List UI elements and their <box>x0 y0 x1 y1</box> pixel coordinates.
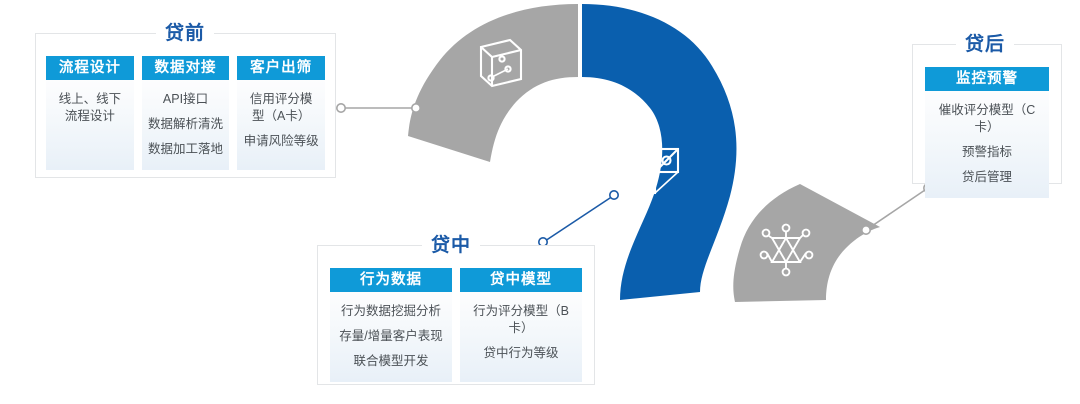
list-item: API接口 <box>142 87 230 112</box>
column-header: 贷中模型 <box>460 268 582 292</box>
panel-title-pre-loan: 贷前 <box>156 21 214 47</box>
column-process-design[interactable]: 流程设计 线上、线下 流程设计 <box>46 56 134 170</box>
column-header: 监控预警 <box>925 67 1049 91</box>
column-body: 行为评分模型（B卡） 贷中行为等级 <box>460 292 582 382</box>
list-item: 催收评分模型（C卡） <box>925 98 1049 140</box>
list-item: 预警指标 <box>925 140 1049 165</box>
list-item: 贷后管理 <box>925 165 1049 190</box>
list-item: 存量/增量客户表现 <box>330 324 452 349</box>
list-item: 数据解析清洗 <box>142 112 230 137</box>
column-body: 行为数据挖掘分析 存量/增量客户表现 联合模型开发 <box>330 292 452 382</box>
column-header: 数据对接 <box>142 56 230 80</box>
column-customer-screening[interactable]: 客户出筛 信用评分模 型（A卡） 申请风险等级 <box>237 56 325 170</box>
connector-pre <box>337 104 420 112</box>
column-data-integration[interactable]: 数据对接 API接口 数据解析清洗 数据加工落地 <box>142 56 230 170</box>
list-item: 联合模型开发 <box>330 349 452 374</box>
list-item: 贷中行为等级 <box>460 341 582 366</box>
panel-title-post-loan: 贷后 <box>956 32 1014 58</box>
list-item: 数据加工落地 <box>142 137 230 162</box>
column-body: 催收评分模型（C卡） 预警指标 贷后管理 <box>925 91 1049 198</box>
list-item: 信用评分模 型（A卡） <box>237 87 325 129</box>
column-header: 客户出筛 <box>237 56 325 80</box>
column-group-post-loan: 监控预警 催收评分模型（C卡） 预警指标 贷后管理 <box>925 67 1049 198</box>
column-monitoring-alert[interactable]: 监控预警 催收评分模型（C卡） 预警指标 贷后管理 <box>925 67 1049 198</box>
connector-post <box>862 184 932 234</box>
panel-post-loan: 贷后 监控预警 催收评分模型（C卡） 预警指标 贷后管理 <box>912 44 1062 184</box>
panel-pre-loan: 贷前 流程设计 线上、线下 流程设计 数据对接 API接口 数据解析清洗 数据加… <box>35 33 336 178</box>
list-item: 申请风险等级 <box>237 129 325 154</box>
list-item: 线上、线下 流程设计 <box>46 87 134 129</box>
column-group-during-loan: 行为数据 行为数据挖掘分析 存量/增量客户表现 联合模型开发 贷中模型 行为评分… <box>330 268 582 382</box>
column-header: 行为数据 <box>330 268 452 292</box>
column-behavior-data[interactable]: 行为数据 行为数据挖掘分析 存量/增量客户表现 联合模型开发 <box>330 268 452 382</box>
column-body: API接口 数据解析清洗 数据加工落地 <box>142 80 230 170</box>
column-body: 信用评分模 型（A卡） 申请风险等级 <box>237 80 325 170</box>
column-during-loan-model[interactable]: 贷中模型 行为评分模型（B卡） 贷中行为等级 <box>460 268 582 382</box>
list-item: 行为数据挖掘分析 <box>330 299 452 324</box>
column-body: 线上、线下 流程设计 <box>46 80 134 170</box>
diagram-canvas: 贷前 流程设计 线上、线下 流程设计 数据对接 API接口 数据解析清洗 数据加… <box>0 0 1080 404</box>
panel-title-during-loan: 贷中 <box>422 233 480 259</box>
connector-mid <box>539 191 618 246</box>
panel-during-loan: 贷中 行为数据 行为数据挖掘分析 存量/增量客户表现 联合模型开发 贷中模型 行… <box>317 245 595 385</box>
list-item: 行为评分模型（B卡） <box>460 299 582 341</box>
column-header: 流程设计 <box>46 56 134 80</box>
column-group-pre-loan: 流程设计 线上、线下 流程设计 数据对接 API接口 数据解析清洗 数据加工落地… <box>46 56 325 170</box>
